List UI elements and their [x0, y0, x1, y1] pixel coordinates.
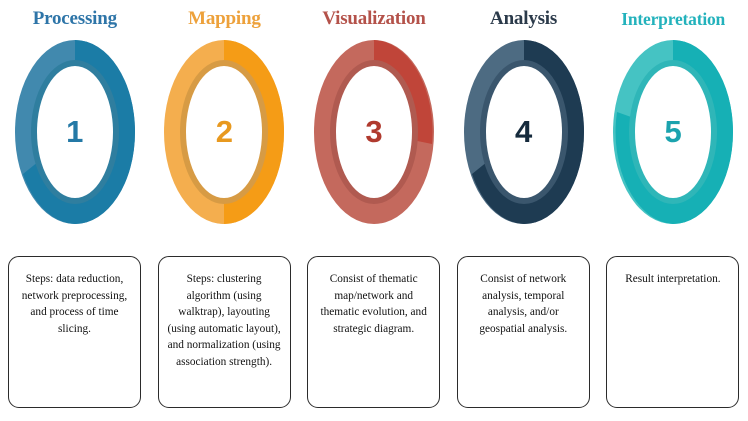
step-title-3: Visualization: [322, 6, 425, 32]
step-description-3: Consist of thematic map/network and them…: [307, 256, 440, 408]
step-donut-4: 4: [460, 34, 588, 230]
step-donut-2: 2: [160, 34, 288, 230]
step-description-1: Steps: data reduction, network preproces…: [8, 256, 141, 408]
step-title-4: Analysis: [490, 6, 557, 32]
donut-ring-icon: [160, 34, 288, 230]
donut-ring-icon: [460, 34, 588, 230]
infographic-canvas: Processing 1 Steps: data reduction, netw…: [0, 0, 748, 421]
step-column-3: Visualization 3 Consist of thematic map/…: [299, 0, 449, 421]
step-columns: Processing 1 Steps: data reduction, netw…: [0, 0, 748, 421]
donut-center-hole: [186, 66, 262, 198]
step-column-2: Mapping 2 Steps: clustering algorithm (u…: [150, 0, 300, 421]
donut-center-hole: [336, 66, 412, 198]
step-column-1: Processing 1 Steps: data reduction, netw…: [0, 0, 150, 421]
donut-center-hole: [486, 66, 562, 198]
step-column-4: Analysis 4 Consist of network analysis, …: [449, 0, 599, 421]
step-title-1: Processing: [33, 6, 117, 32]
donut-ring-icon: [11, 34, 139, 230]
step-description-2: Steps: clustering algorithm (using walkt…: [158, 256, 291, 408]
donut-center-hole: [635, 66, 711, 198]
step-description-5: Result interpretation.: [606, 256, 739, 408]
step-donut-3: 3: [310, 34, 438, 230]
step-donut-5: 5: [609, 34, 737, 230]
donut-ring-icon: [609, 34, 737, 230]
donut-ring-icon: [310, 34, 438, 230]
donut-center-hole: [37, 66, 113, 198]
step-column-5: Interpretation 5 Result interpretation.: [598, 0, 748, 421]
step-donut-1: 1: [11, 34, 139, 230]
step-description-4: Consist of network analysis, temporal an…: [457, 256, 590, 408]
step-title-5: Interpretation: [621, 6, 725, 32]
step-title-2: Mapping: [188, 6, 261, 32]
